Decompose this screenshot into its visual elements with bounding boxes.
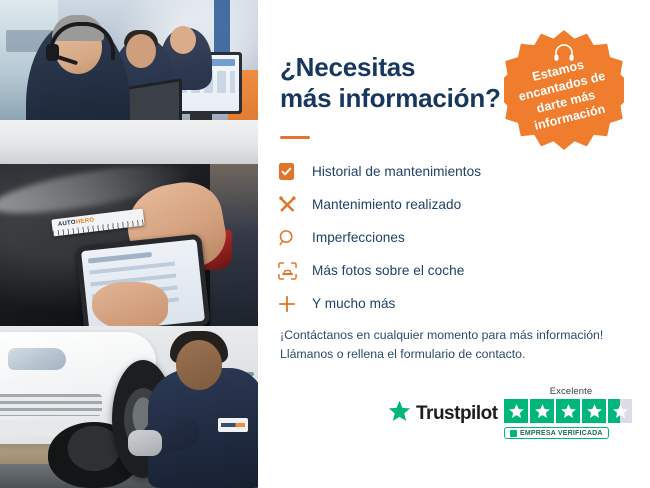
trustpilot-star-icon: [388, 400, 411, 427]
car-focus-icon: [278, 262, 312, 280]
feature-item-fotos: Más fotos sobre el coche: [278, 254, 630, 287]
rating-star-filled: [530, 399, 554, 423]
grille-decor: [0, 394, 102, 416]
promo-banner: AUTOHERO: [0, 0, 650, 488]
clipboard-check-icon: [278, 162, 312, 181]
feature-label: Y mucho más: [312, 296, 395, 311]
feature-label: Historial de mantenimientos: [312, 164, 481, 179]
starburst-badge: Estamos encantados de darte más informac…: [504, 30, 624, 150]
rating-star-filled: [504, 399, 528, 423]
magnifier-icon: [278, 229, 312, 247]
feature-item-historial: Historial de mantenimientos: [278, 155, 630, 188]
feature-label: Mantenimiento realizado: [312, 197, 461, 212]
verified-label: EMPRESA VERIFICADA: [520, 430, 603, 437]
feature-item-mantenimiento: Mantenimiento realizado: [278, 188, 630, 221]
feature-list: Historial de mantenimientos Mantenimient…: [278, 155, 630, 320]
mechanic-head-decor: [176, 340, 222, 390]
verified-check-icon: [510, 430, 517, 437]
photo-wheel-inspection: [0, 326, 258, 488]
feature-item-mas: Y mucho más: [278, 287, 630, 320]
feature-item-imperfecciones: Imperfecciones: [278, 221, 630, 254]
mechanic-glove-decor: [128, 430, 162, 456]
photo-column: AUTOHERO: [0, 0, 258, 488]
trustpilot-rating: Excelente: [504, 386, 638, 442]
contact-paragraph-line-2: Llámanos o rellena el formulario de cont…: [280, 345, 640, 364]
ruler-brand-a: AUTO: [58, 220, 77, 228]
photo-call-centre: [0, 0, 258, 164]
rating-star-half: [608, 399, 632, 423]
desk-decor: [0, 120, 258, 164]
feature-label: Imperfecciones: [312, 230, 405, 245]
crossed-tools-icon: [278, 195, 312, 214]
person-head-2: [126, 34, 156, 68]
photo-inspection-ruler: AUTOHERO: [0, 164, 258, 326]
ruler-brand-b: HERO: [76, 217, 95, 225]
blue-pillar-decor: [214, 0, 230, 56]
trustpilot-wordmark: Trustpilot: [416, 403, 498, 425]
mechanic-logo-patch-decor: [218, 418, 248, 432]
page-title-line-2: más información?: [280, 83, 510, 114]
trustpilot-stars: [504, 399, 638, 423]
contact-paragraph: ¡Contáctanos en cualquier momento para m…: [280, 326, 640, 364]
contact-paragraph-line-1: ¡Contáctanos en cualquier momento para m…: [280, 326, 640, 345]
title-divider: [280, 136, 310, 139]
hand-lower-decor: [92, 282, 168, 326]
rating-star-filled: [582, 399, 606, 423]
trustpilot-rating-label: Excelente: [504, 386, 638, 397]
verified-badge: EMPRESA VERIFICADA: [504, 427, 609, 439]
content-panel: ¿Necesitas más información? Estamos enca…: [258, 0, 650, 488]
headlight-decor: [8, 348, 66, 370]
trustpilot-logo[interactable]: Trustpilot: [388, 400, 498, 427]
person-head-3: [170, 26, 196, 54]
rating-star-filled: [556, 399, 580, 423]
trustpilot-widget[interactable]: Trustpilot Excelente: [388, 386, 638, 452]
feature-label: Más fotos sobre el coche: [312, 263, 464, 278]
page-title-line-1: ¿Necesitas: [280, 52, 510, 83]
page-title: ¿Necesitas más información?: [280, 52, 510, 114]
plus-icon: [278, 295, 312, 313]
